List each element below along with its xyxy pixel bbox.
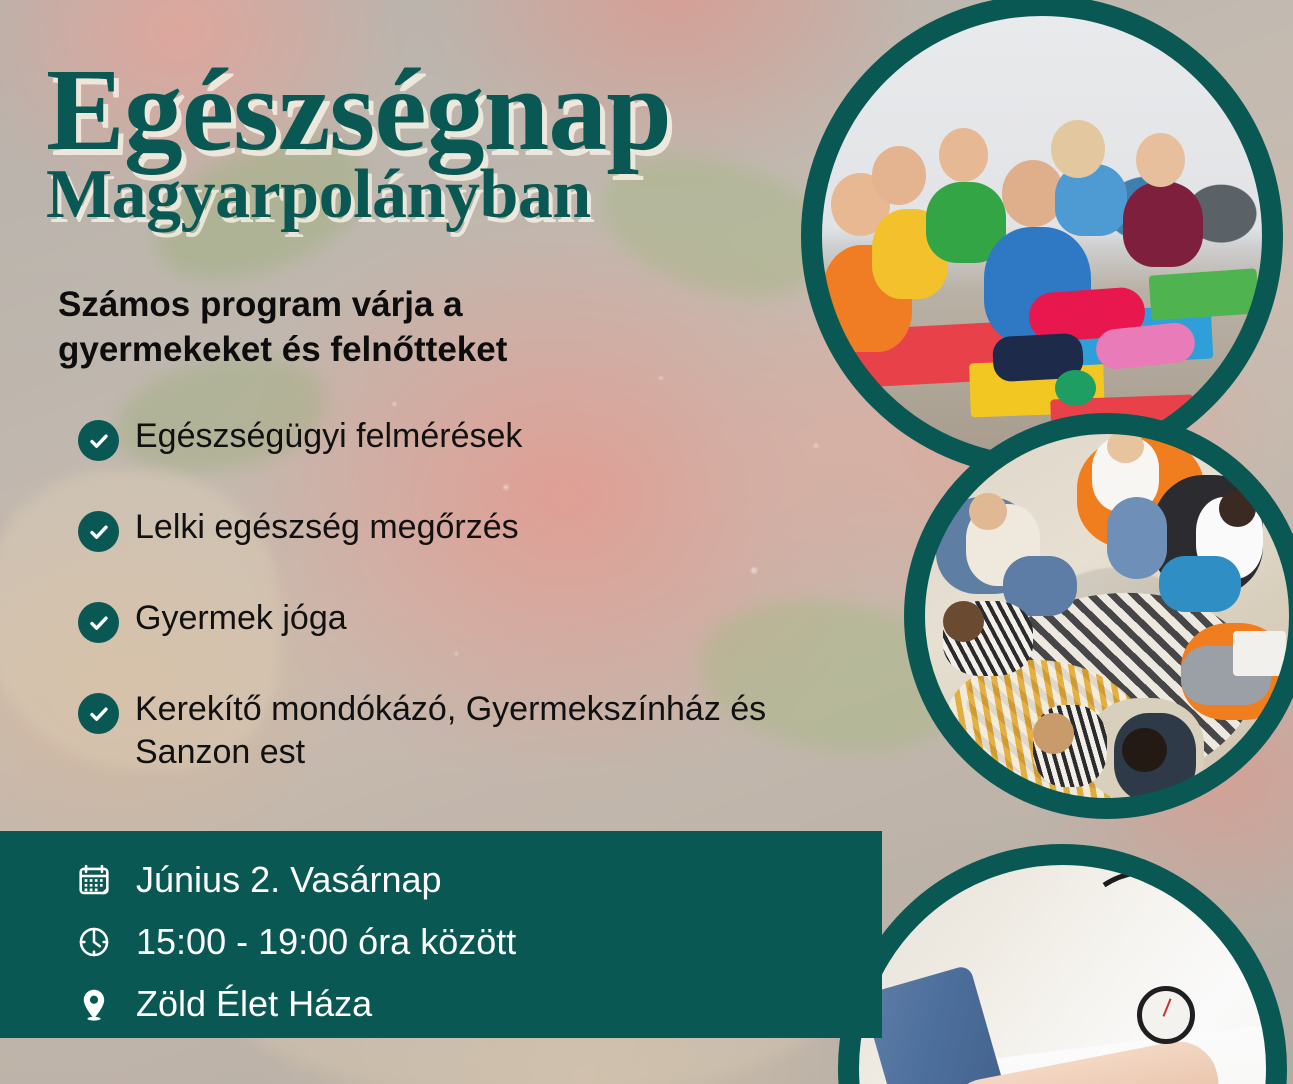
check-icon [78,693,119,734]
check-icon [78,420,119,461]
program-label: Egészségügyi felmérések [135,415,522,458]
poster-content: Egészségnap Magyarpolányban Számos progr… [0,0,860,1084]
program-label: Kerekítő mondókázó, Gyermekszínház és Sa… [135,688,838,773]
check-icon [78,602,119,643]
program-label: Gyermek jóga [135,597,347,640]
list-item: Egészségügyi felmérések [78,415,838,461]
list-item: Kerekítő mondókázó, Gyermekszínház és Sa… [78,688,838,773]
list-item: Lelki egészség megőrzés [78,506,838,552]
list-item: Gyermek jóga [78,597,838,643]
poster-title-block: Egészségnap Magyarpolányban [46,52,746,230]
health-day-poster: Június 2. Vasárnap 15:00 - 19:00 óra köz… [0,0,1293,1084]
program-label: Lelki egészség megőrzés [135,506,519,549]
check-icon [78,511,119,552]
photo-ring [801,0,1283,477]
page-title: Egészségnap [46,52,746,168]
photo-ring [904,413,1293,819]
lead-paragraph: Számos program várja a gyermekeket és fe… [58,283,678,373]
program-list: Egészségügyi felmérések Lelki egészség m… [78,415,838,773]
